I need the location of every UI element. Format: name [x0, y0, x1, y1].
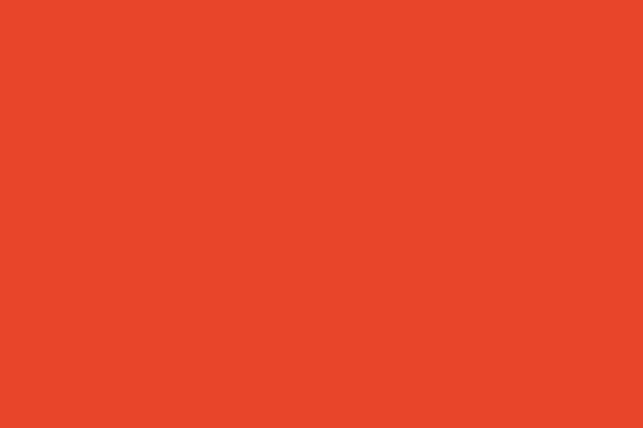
app-icon-dot: [56, 37, 62, 45]
title-line-1: 意甲球队编号大全2025更新版：报: [84, 184, 552, 236]
app-icon-dots: [23, 37, 67, 45]
plus-icon: [39, 48, 51, 60]
title-line-2: 名编号与阵容名单汇总: [84, 236, 552, 288]
app-icon-base: [23, 46, 67, 62]
app-icon-dot: [38, 37, 44, 45]
app-icon-watermark: [14, 9, 76, 71]
cover-image-stage: Banrisul Banrisul 意甲球队编号大全2025更新版：报 名编号与…: [0, 0, 643, 428]
app-icon-dot: [47, 37, 53, 45]
app-icon-dot: [29, 37, 35, 45]
app-badge-plus-icon: [23, 18, 67, 62]
title-overlay-band: 意甲球队编号大全2025更新版：报 名编号与阵容名单汇总: [68, 167, 568, 304]
